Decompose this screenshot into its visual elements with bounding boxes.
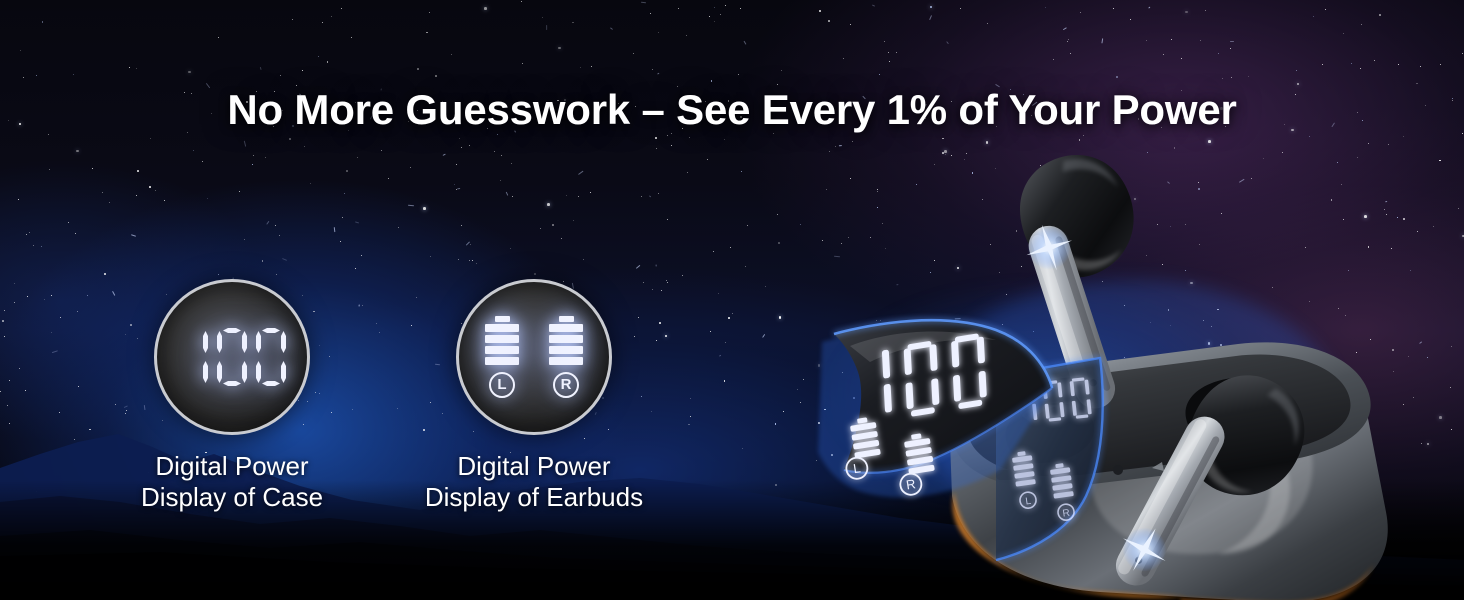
page-headline: No More Guesswork – See Every 1% of Your… [0,86,1464,134]
star [1374,60,1375,61]
star [724,139,725,140]
star [341,8,342,9]
star [728,317,730,319]
star [552,224,554,226]
star [136,68,137,69]
star [656,148,657,149]
star [718,293,719,294]
star [510,248,511,249]
star [193,150,194,151]
star [1080,12,1081,13]
star [1361,24,1362,25]
star-streak [506,191,509,195]
star [188,71,191,74]
star-streak [578,170,583,174]
star [129,67,130,68]
battery-icon-right [549,316,583,365]
star [14,283,15,284]
star [686,35,687,36]
star [1218,53,1219,54]
star [68,222,69,223]
star [344,193,345,194]
star-streak [131,234,136,237]
star [51,295,52,296]
star [1462,53,1463,54]
segment-sd [262,381,280,386]
star [49,169,50,170]
dual-battery-gauges: L R [485,316,583,398]
caption-line-1: Digital Power [404,451,664,482]
star [470,244,471,245]
star [23,77,24,78]
star [828,20,830,22]
battery-left: L [485,316,519,398]
star-streak [408,205,414,207]
star [469,145,470,146]
star [741,171,742,172]
star [461,225,462,226]
star [521,1,522,2]
left-channel-label: L [489,372,515,398]
star [1113,8,1115,10]
star [302,70,303,71]
star-streak [1230,41,1234,42]
star [511,163,513,165]
feature-caption-case: Digital Power Display of Case [102,451,362,513]
star [262,260,264,262]
star [239,191,240,192]
star [155,190,156,191]
star [342,217,343,218]
star [14,302,15,303]
star [713,251,714,252]
star [666,280,667,281]
star [426,32,428,34]
star-streak [355,221,360,223]
star [583,259,584,260]
star [542,17,543,18]
star [51,332,52,333]
star [819,10,821,12]
star-streak [609,27,612,29]
star [104,273,106,275]
star [561,238,562,239]
star [573,220,574,221]
star [714,7,715,8]
star [430,256,431,257]
star [351,37,352,38]
star [1200,40,1201,41]
star [484,7,487,10]
star [279,235,280,236]
star [850,24,851,25]
star [667,282,668,283]
star [20,50,21,51]
star [930,6,933,9]
star [1185,11,1188,14]
star [276,274,277,275]
segment-sb [203,331,208,353]
star [667,135,668,136]
star [522,63,523,64]
star [896,52,897,53]
star [4,336,5,337]
star [376,323,377,324]
star [244,239,245,240]
star [136,195,137,196]
segment-sc [203,361,208,383]
star [725,5,726,6]
battery-bar [549,346,583,354]
star [960,8,961,9]
right-channel-label: R [553,372,579,398]
star [102,192,103,193]
star [280,75,281,76]
star [1070,53,1071,54]
battery-bars-right [549,324,583,365]
star [778,242,780,244]
star-streak [641,2,646,4]
star [879,74,880,75]
star [650,13,651,14]
star [1351,63,1352,64]
star [292,19,293,20]
star-streak [282,258,287,261]
star [633,53,634,54]
battery-nub [495,316,510,322]
star [476,263,477,264]
star [18,199,19,200]
star [884,41,885,42]
star [494,151,495,152]
dual-battery-icon: L R [456,279,612,435]
star [747,225,748,226]
segment-sa [223,328,241,333]
star-streak [334,227,336,232]
segment-sf [217,331,222,353]
star-streak [1148,7,1150,9]
star [1083,135,1084,136]
star [725,342,726,343]
star [1343,33,1344,34]
star [29,232,30,233]
star [150,138,151,139]
star [730,247,731,248]
segment-sd [223,381,241,386]
star [1230,48,1231,49]
star [1163,54,1164,55]
segment-sa [262,328,280,333]
star [1379,14,1381,16]
star [547,203,550,206]
star [1360,68,1361,69]
star [77,311,78,312]
star [652,69,653,70]
star [355,268,356,269]
star-streak [657,72,660,74]
star [512,196,513,197]
star [590,192,591,193]
star [310,183,311,184]
star [469,260,470,261]
star [1130,19,1131,20]
star [1325,9,1326,10]
star [331,16,332,17]
caption-line-2: Display of Earbuds [404,482,664,513]
star [1440,64,1442,66]
star [710,331,711,332]
star [361,255,362,256]
battery-bar [549,324,583,332]
star-streak [762,334,765,338]
star [289,138,291,140]
battery-bar [485,346,519,354]
star [558,47,561,50]
star [777,214,778,215]
star [253,155,254,156]
star [73,74,74,75]
star [765,286,766,287]
seven-segment-digit [217,328,247,386]
caption-line-1: Digital Power [102,451,362,482]
star [987,23,988,24]
segment-se [217,361,222,383]
star-streak [456,187,459,189]
segment-se [256,361,261,383]
battery-nub [559,316,574,322]
star-streak [1063,27,1067,30]
star [2,320,4,322]
star [75,233,77,235]
star [252,164,253,165]
star [1181,58,1182,59]
star [1309,136,1310,137]
star [711,80,713,82]
feature-earbuds-display: L R Digital Power Display of Earbuds [404,279,664,513]
star [410,167,411,168]
star [472,260,473,261]
segment-sc [281,361,286,383]
star [458,259,459,260]
star [658,32,659,33]
star [379,332,380,333]
star [218,37,219,38]
battery-bar [485,357,519,365]
star [1053,59,1054,60]
star [318,56,319,57]
star [304,146,305,147]
star [740,8,741,9]
star [60,317,61,318]
star [454,184,455,185]
star [164,200,165,201]
star [327,61,329,63]
battery-icon-left [485,316,519,365]
star [456,164,457,165]
battery-bar [485,335,519,343]
star-streak [743,41,746,45]
star-streak [266,220,269,224]
star [265,157,266,158]
star [1146,40,1147,41]
feature-caption-earbuds: Digital Power Display of Earbuds [404,451,664,513]
star [1398,64,1399,65]
star [1116,76,1118,78]
star [1313,16,1314,17]
star [44,299,45,300]
star [689,137,690,138]
star [779,316,782,319]
star [26,234,27,235]
battery-bar [549,357,583,365]
star-streak [1102,38,1104,43]
star [109,202,110,203]
seven-segment-digit [178,328,208,386]
star [451,54,452,55]
star [889,61,890,62]
star [41,246,42,247]
star-streak [259,67,261,71]
segment-sf [256,331,261,353]
star [682,275,683,276]
star [459,138,460,139]
battery-bar [485,324,519,332]
star-streak [546,25,547,30]
seven-segment-digit [256,328,286,386]
star [357,157,358,158]
star [1067,41,1068,42]
star [1296,70,1297,71]
star [429,12,430,13]
seven-segment-value [178,328,286,386]
star [92,168,93,169]
feature-case-display: Digital Power Display of Case [102,279,362,513]
star [667,219,668,220]
segment-sc [242,361,247,383]
star [671,145,672,146]
star [417,68,419,70]
caption-line-2: Display of Case [102,482,362,513]
star [1231,77,1232,78]
star [1171,39,1172,40]
star [346,170,348,172]
star [388,178,389,179]
earbuds-product-image: L R [800,140,1464,600]
star [76,150,79,153]
star [591,66,592,67]
star [435,75,437,77]
star [678,8,679,9]
star [1248,76,1249,77]
star-streak [648,196,651,198]
star [149,186,151,188]
star [33,245,34,246]
battery-bar [549,335,583,343]
star [1297,83,1300,86]
star [275,225,276,226]
star [1403,136,1404,137]
star [540,228,542,230]
star [720,14,721,15]
star-streak [929,15,932,20]
star [572,22,574,24]
star [738,74,739,75]
svg-text:R: R [1062,508,1071,520]
star [658,193,659,194]
star [497,134,498,135]
star [340,241,341,242]
star [843,58,844,59]
star [461,147,462,148]
star [714,21,715,22]
star [687,172,688,173]
star [137,170,139,172]
star [1322,64,1323,65]
battery-bars-left [485,324,519,365]
star [202,161,203,162]
star [1222,78,1223,79]
star [732,313,733,314]
star [1420,66,1421,67]
star [534,273,536,275]
star [578,196,579,197]
star [1416,83,1418,85]
star [500,180,501,181]
star [42,21,44,23]
star [4,310,5,311]
star-streak [443,153,446,155]
star-streak [636,265,640,269]
star [207,198,208,199]
star [709,16,710,17]
star [745,266,746,267]
star-streak [946,41,949,44]
star [888,52,889,53]
star [665,335,668,338]
star [501,155,502,156]
star [218,274,219,275]
digital-number-icon [154,279,310,435]
segment-sb [281,331,286,353]
star [1045,7,1046,8]
star [423,207,426,210]
star [87,295,88,296]
star [1205,10,1206,11]
battery-right: R [549,316,583,398]
star [580,67,581,68]
star [322,22,323,23]
star [398,227,399,228]
star-streak [655,264,656,266]
star [381,150,382,151]
segment-sb [242,331,247,353]
star [566,195,567,196]
product-feature-banner: L R [0,0,1464,600]
star-streak [244,140,247,146]
star [707,159,708,160]
star [36,75,37,76]
star [655,137,657,139]
star [27,296,28,297]
star-streak [872,4,875,6]
star [641,196,642,197]
star [781,70,782,71]
